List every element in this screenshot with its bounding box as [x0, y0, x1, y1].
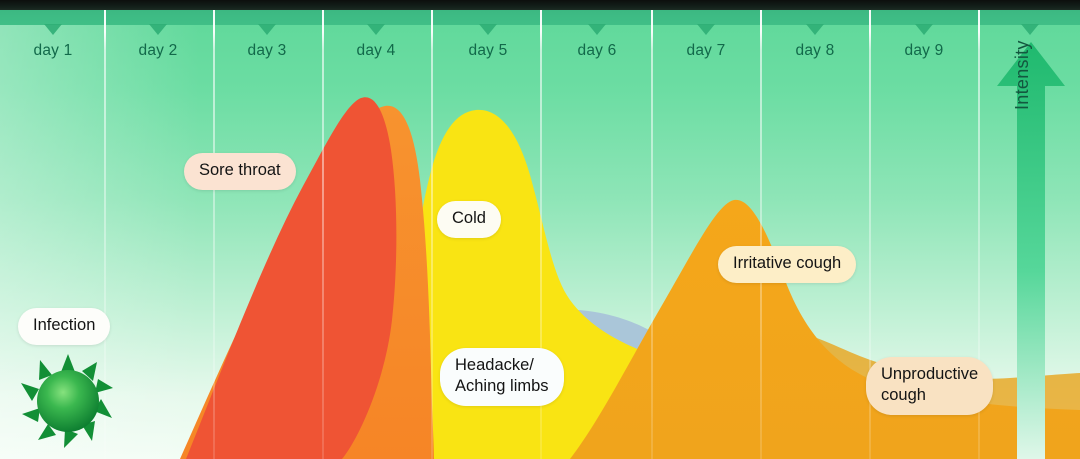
tick-down-arrow-icon: [915, 24, 933, 35]
symptom-timeline-chart: day 1 day 2 day 3 day 4 day 5 day 6 day …: [0, 0, 1080, 459]
label-unproductive-cough: Unproductive cough: [866, 357, 993, 415]
tick-down-arrow-icon: [697, 24, 715, 35]
x-axis-label-day-6: day 6: [578, 42, 617, 60]
tick-down-arrow-icon: [149, 24, 167, 35]
virus-icon: [18, 350, 118, 450]
gridline: [322, 10, 324, 459]
x-axis-label-day-3: day 3: [248, 42, 287, 60]
gridline: [760, 10, 762, 459]
label-infection: Infection: [18, 308, 110, 345]
label-cold: Cold: [437, 201, 501, 238]
y-axis-label: Intensity: [1012, 0, 1033, 110]
tick-down-arrow-icon: [806, 24, 824, 35]
x-axis-label-day-7: day 7: [687, 42, 726, 60]
gridline: [431, 10, 433, 459]
label-sore-throat: Sore throat: [184, 153, 296, 190]
tick-down-arrow-icon: [479, 24, 497, 35]
x-axis-label-day-9: day 9: [905, 42, 944, 60]
series-area-sore-throat: [186, 97, 396, 459]
x-axis-label-day-4: day 4: [357, 42, 396, 60]
tick-down-arrow-icon: [588, 24, 606, 35]
gridline: [651, 10, 653, 459]
x-axis-label-day-5: day 5: [469, 42, 508, 60]
tick-down-arrow-icon: [44, 24, 62, 35]
gridline: [213, 10, 215, 459]
x-axis-label-day-8: day 8: [796, 42, 835, 60]
x-axis-label-day-2: day 2: [139, 42, 178, 60]
tick-down-arrow-icon: [367, 24, 385, 35]
top-bar: [0, 0, 1080, 10]
label-headache: Headacke/ Aching limbs: [440, 348, 564, 406]
tick-down-arrow-icon: [258, 24, 276, 35]
x-axis-label-day-1: day 1: [34, 42, 73, 60]
label-irritative-cough: Irritative cough: [718, 246, 856, 283]
